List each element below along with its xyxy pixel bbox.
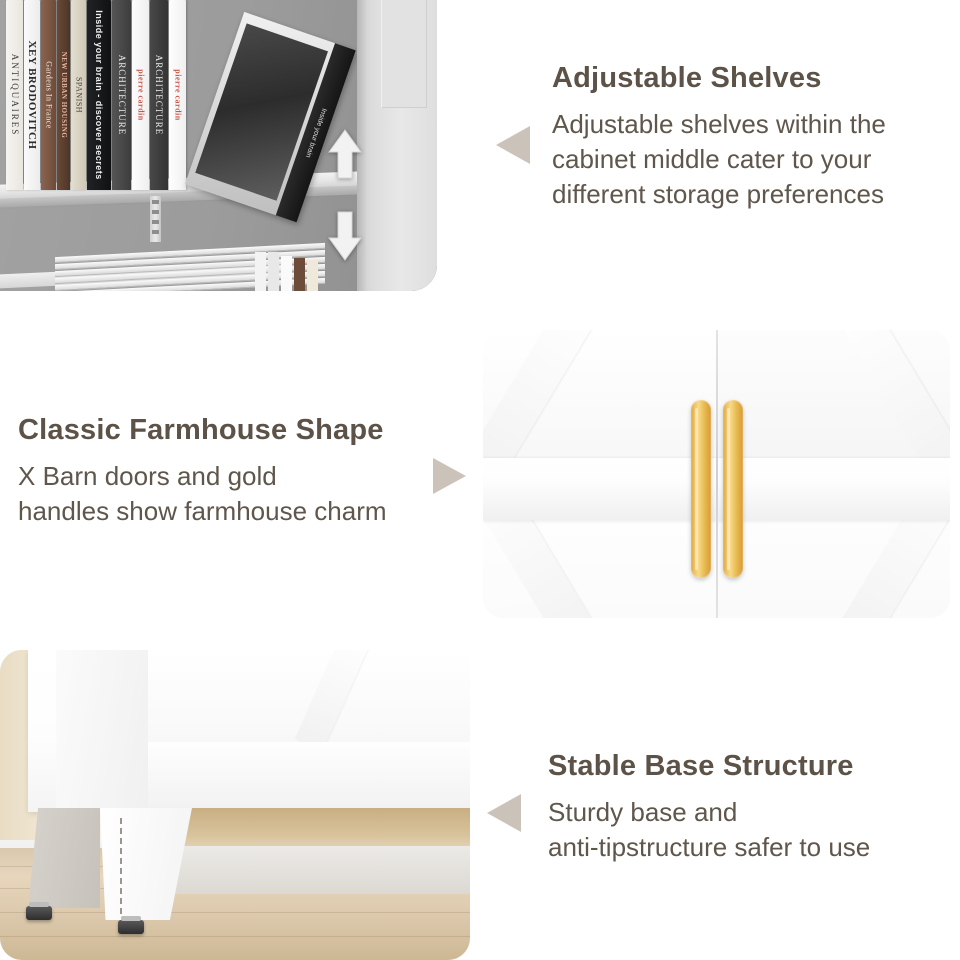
feature-body-line: cabinet middle cater to your bbox=[552, 142, 952, 177]
door-center-seam bbox=[716, 330, 718, 618]
shelf-pin-strip bbox=[150, 196, 161, 242]
under-cabinet-floor bbox=[160, 846, 470, 894]
cabinet-body bbox=[28, 650, 470, 812]
feature-body-line: handles show farmhouse charm bbox=[18, 494, 468, 529]
pointer-triangle-classic-farmhouse-shape bbox=[433, 458, 466, 494]
feature-body-line: Adjustable shelves within the bbox=[552, 107, 952, 142]
gold-handle-right bbox=[723, 400, 743, 578]
infographic-canvas: ANTIQUAIRES XEY BRODOVITCH Gardens In Fr… bbox=[0, 0, 960, 960]
leg-seam-dashed-line bbox=[120, 818, 122, 914]
feature-body-line: different storage preferences bbox=[552, 177, 952, 212]
feature-title-adjustable-shelves: Adjustable Shelves bbox=[552, 62, 952, 95]
adjustable-foot bbox=[118, 920, 144, 934]
feature-body-line: X Barn doors and gold bbox=[18, 459, 468, 494]
feature-block-adjustable-shelves: Adjustable Shelves Adjustable shelves wi… bbox=[552, 62, 952, 211]
photo-x-barn-doors bbox=[483, 330, 950, 618]
feature-block-classic-farmhouse-shape: Classic Farmhouse Shape X Barn doors and… bbox=[18, 414, 468, 529]
feature-body-line: Sturdy base and bbox=[548, 795, 948, 830]
arrow-up-icon bbox=[328, 128, 362, 180]
feature-block-stable-base-structure: Stable Base Structure Sturdy base and an… bbox=[548, 750, 948, 865]
photo-adjustable-shelves: ANTIQUAIRES XEY BRODOVITCH Gardens In Fr… bbox=[0, 0, 437, 291]
cabinet-leg-back bbox=[28, 808, 100, 908]
gold-handle-left bbox=[691, 400, 711, 578]
cabinet-side-panel bbox=[56, 650, 152, 810]
pointer-triangle-adjustable-shelves bbox=[496, 126, 530, 164]
feature-body-classic-farmhouse-shape: X Barn doors and gold handles show farmh… bbox=[18, 459, 468, 528]
arrow-down-icon bbox=[328, 210, 362, 262]
adjustable-foot bbox=[26, 906, 52, 920]
feature-body-line: anti-tipstructure safer to use bbox=[548, 830, 948, 865]
cabinet-frame bbox=[357, 0, 437, 291]
photo-stable-base bbox=[0, 650, 470, 960]
pointer-triangle-stable-base-structure bbox=[487, 794, 521, 832]
feature-body-adjustable-shelves: Adjustable shelves within the cabinet mi… bbox=[552, 107, 952, 211]
cabinet-base-rail bbox=[148, 742, 470, 808]
feature-title-stable-base-structure: Stable Base Structure bbox=[548, 750, 948, 783]
lower-shelf-books bbox=[255, 248, 330, 291]
feature-body-stable-base-structure: Sturdy base and anti-tipstructure safer … bbox=[548, 795, 948, 864]
cabinet-door-lower-edge bbox=[148, 650, 470, 743]
feature-title-classic-farmhouse-shape: Classic Farmhouse Shape bbox=[18, 414, 468, 447]
